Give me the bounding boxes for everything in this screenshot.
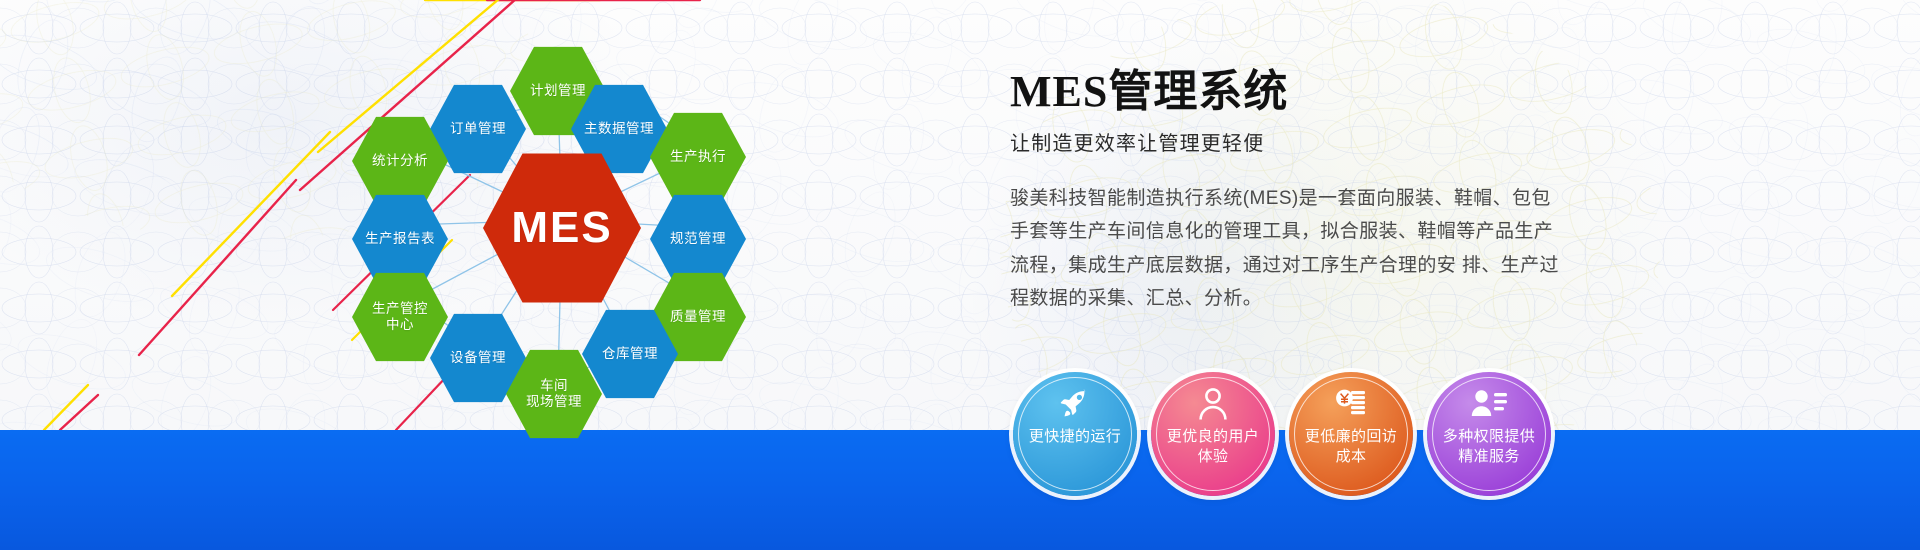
hex-label: 主数据管理 xyxy=(578,121,660,137)
hex-label: 车间现场管理 xyxy=(514,378,594,410)
hex-label: 规范管理 xyxy=(664,231,732,247)
hex-label: 生产报告表 xyxy=(359,231,441,247)
hex-label: 统计分析 xyxy=(366,153,434,169)
page-subtitle: 让制造更效率让管理更轻便 xyxy=(1010,127,1650,156)
core-label: MES xyxy=(505,202,618,254)
badge-label-line2: 成本 xyxy=(1305,447,1397,467)
mes-hex-diagram: 计划管理 订单管理 主数据管理 统计分析 生产执行 生产报告表 规范管理 生产管… xyxy=(330,10,850,440)
badge-faster-operation[interactable]: 更快捷的运行 xyxy=(1013,372,1137,496)
badge-label-line1: 更低廉的回访 xyxy=(1305,427,1397,447)
hex-label: 质量管理 xyxy=(664,309,732,325)
bottom-blue-band xyxy=(0,430,1920,550)
rocket-icon xyxy=(1058,384,1092,424)
badge-label-line2: 精准服务 xyxy=(1443,447,1535,467)
money-stack-icon xyxy=(1334,384,1368,424)
hex-label: 生产执行 xyxy=(664,149,732,165)
hex-label: 计划管理 xyxy=(524,83,592,99)
user-list-icon xyxy=(1471,384,1507,424)
badge-label-line1: 多种权限提供 xyxy=(1443,427,1535,447)
hex-label: 仓库管理 xyxy=(596,346,664,362)
badge-label-line1: 更快捷的运行 xyxy=(1029,427,1121,447)
hex-label: 订单管理 xyxy=(444,121,512,137)
hero-paragraph: 骏美科技智能制造执行系统(MES)是一套面向服装、鞋帽、包包手套等生产车间信息化… xyxy=(1010,182,1570,315)
badge-label-line2: 体验 xyxy=(1167,447,1259,467)
badge-multi-permission-service[interactable]: 多种权限提供 精准服务 xyxy=(1427,372,1551,496)
page-title: MES管理系统 xyxy=(1010,55,1650,119)
user-icon xyxy=(1197,384,1229,424)
badge-label-line1: 更优良的用户 xyxy=(1167,427,1259,447)
banner-stage: 计划管理 订单管理 主数据管理 统计分析 生产执行 生产报告表 规范管理 生产管… xyxy=(0,0,1920,550)
hex-label: 生产管控中心 xyxy=(360,301,440,333)
hero-text-block: MES管理系统 让制造更效率让管理更轻便 骏美科技智能制造执行系统(MES)是一… xyxy=(1010,55,1650,315)
badge-lower-revisit-cost[interactable]: 更低廉的回访 成本 xyxy=(1289,372,1413,496)
feature-badge-list: 更快捷的运行 更优良的用户 体验 xyxy=(1013,372,1551,496)
hex-label: 设备管理 xyxy=(444,350,512,366)
badge-better-user-experience[interactable]: 更优良的用户 体验 xyxy=(1151,372,1275,496)
